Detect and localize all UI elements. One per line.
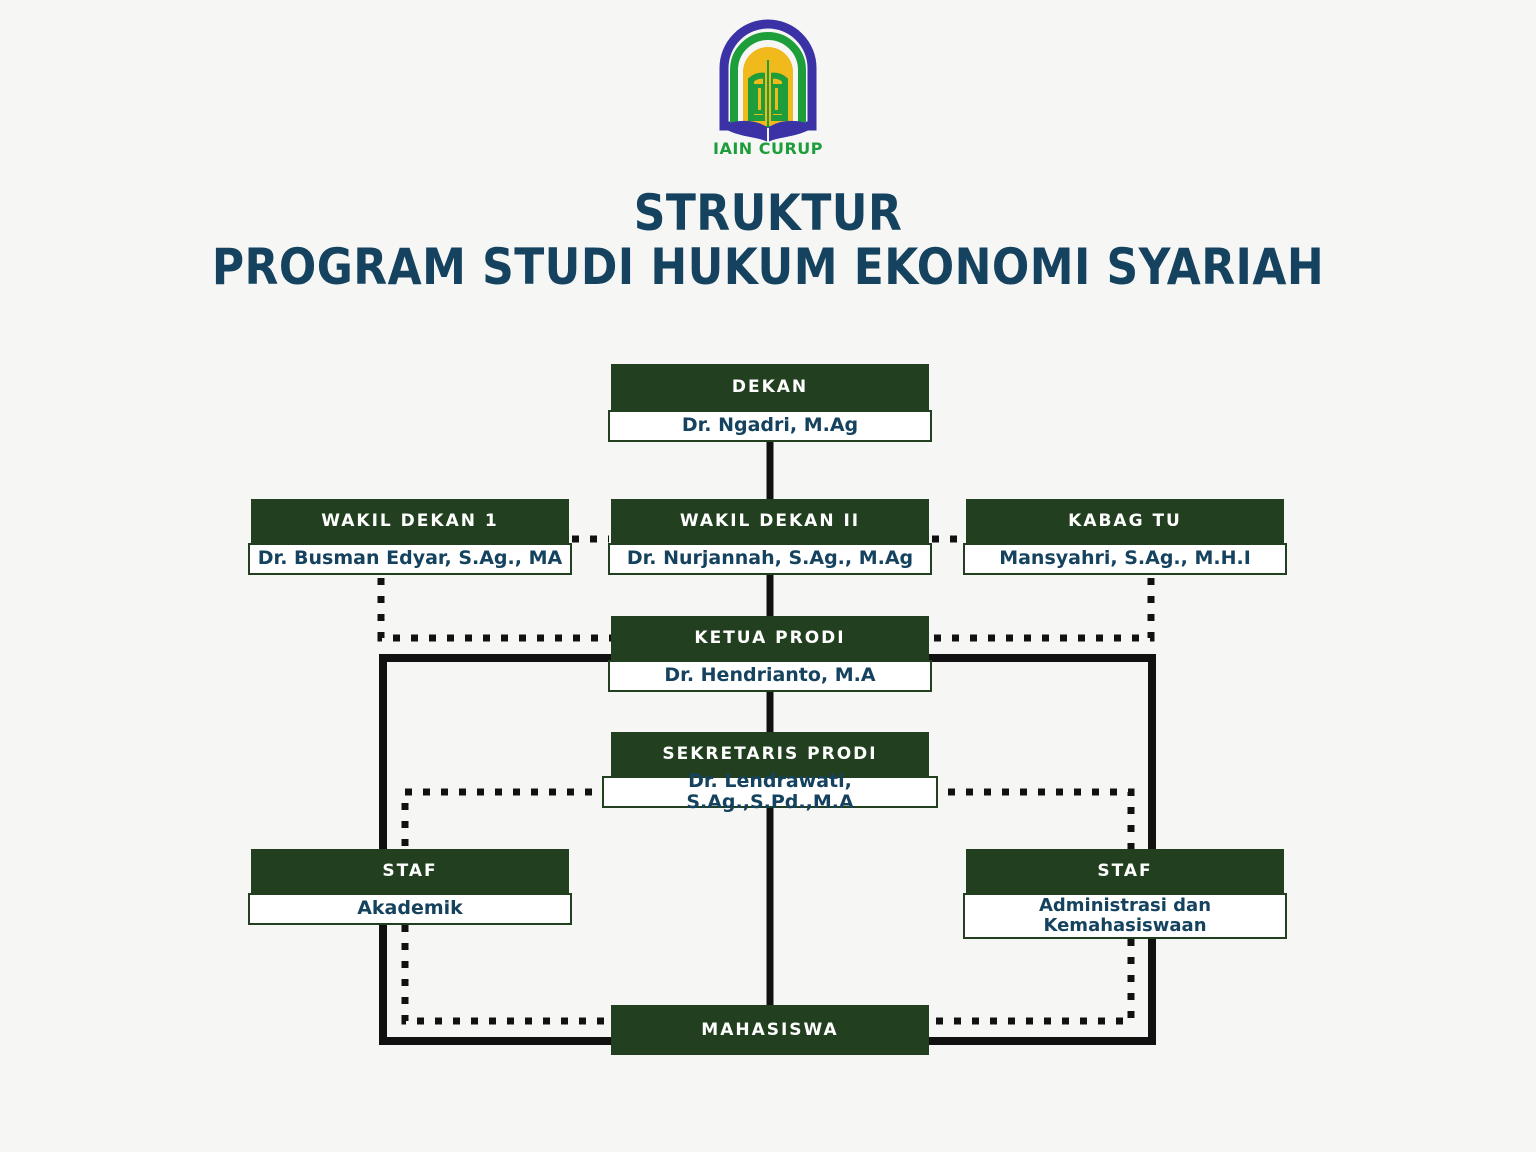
edge-staf-admin-mahasiswa xyxy=(928,939,1131,1021)
edge-sekretaris-staf-admin-right xyxy=(930,792,1131,851)
node-staf-administrasi[interactable]: STAF Administrasi dan Kemahasiswaan xyxy=(966,849,1284,939)
logo-wordmark: IAIN CURUP xyxy=(713,139,823,156)
node-kabag-tu-name: Mansyahri, S.Ag., M.H.I xyxy=(963,543,1287,575)
node-dekan-role: DEKAN xyxy=(611,364,929,410)
node-wakil-dekan-2-name: Dr. Nurjannah, S.Ag., M.Ag xyxy=(608,543,932,575)
connector-lines xyxy=(0,0,1536,1152)
title-line-1: STRUKTUR xyxy=(92,186,1444,240)
node-wakil-dekan-2[interactable]: WAKIL DEKAN II Dr. Nurjannah, S.Ag., M.A… xyxy=(611,499,929,575)
node-dekan[interactable]: DEKAN Dr. Ngadri, M.Ag xyxy=(611,364,929,442)
node-mahasiswa[interactable]: MAHASISWA xyxy=(611,1005,929,1055)
node-kabag-tu-role: KABAG TU xyxy=(966,499,1284,543)
logo-graphic: IAIN CURUP xyxy=(706,14,830,156)
title-line-2: PROGRAM STUDI HUKUM EKONOMI SYARIAH xyxy=(92,240,1444,294)
node-dekan-name: Dr. Ngadri, M.Ag xyxy=(608,410,932,442)
node-kabag-tu[interactable]: KABAG TU Mansyahri, S.Ag., M.H.I xyxy=(966,499,1284,575)
node-staf-akademik[interactable]: STAF Akademik xyxy=(251,849,569,925)
node-mahasiswa-role: MAHASISWA xyxy=(611,1005,929,1055)
node-ketua-prodi[interactable]: KETUA PRODI Dr. Hendrianto, M.A xyxy=(611,616,929,692)
node-staf-administrasi-name: Administrasi dan Kemahasiswaan xyxy=(963,893,1287,939)
node-staf-akademik-name: Akademik xyxy=(248,893,572,925)
node-staf-akademik-role: STAF xyxy=(251,849,569,893)
node-sekretaris-prodi-name: Dr. Lendrawati, S.Ag.,S.Pd.,M.A xyxy=(602,776,938,808)
node-sekretaris-prodi[interactable]: SEKRETARIS PRODI Dr. Lendrawati, S.Ag.,S… xyxy=(611,732,929,808)
edge-sekretaris-staf-akademik-left xyxy=(405,792,610,851)
node-staf-administrasi-role: STAF xyxy=(966,849,1284,893)
node-ketua-prodi-role: KETUA PRODI xyxy=(611,616,929,660)
org-chart-page: IAIN CURUP STRUKTUR PROGRAM STUDI HUKUM … xyxy=(0,0,1536,1152)
node-wakil-dekan-1-name: Dr. Busman Edyar, S.Ag., MA xyxy=(248,543,572,575)
edge-kabag-ketua xyxy=(928,578,1151,638)
node-wakil-dekan-2-role: WAKIL DEKAN II xyxy=(611,499,929,543)
node-wakil-dekan-1-role: WAKIL DEKAN 1 xyxy=(251,499,569,543)
node-wakil-dekan-1[interactable]: WAKIL DEKAN 1 Dr. Busman Edyar, S.Ag., M… xyxy=(251,499,569,575)
iain-curup-logo: IAIN CURUP xyxy=(706,14,830,156)
edge-staf-akademik-mahasiswa xyxy=(405,925,612,1021)
page-title: STRUKTUR PROGRAM STUDI HUKUM EKONOMI SYA… xyxy=(0,186,1536,294)
node-ketua-prodi-name: Dr. Hendrianto, M.A xyxy=(608,660,932,692)
edge-wakil1-ketua xyxy=(381,578,612,638)
